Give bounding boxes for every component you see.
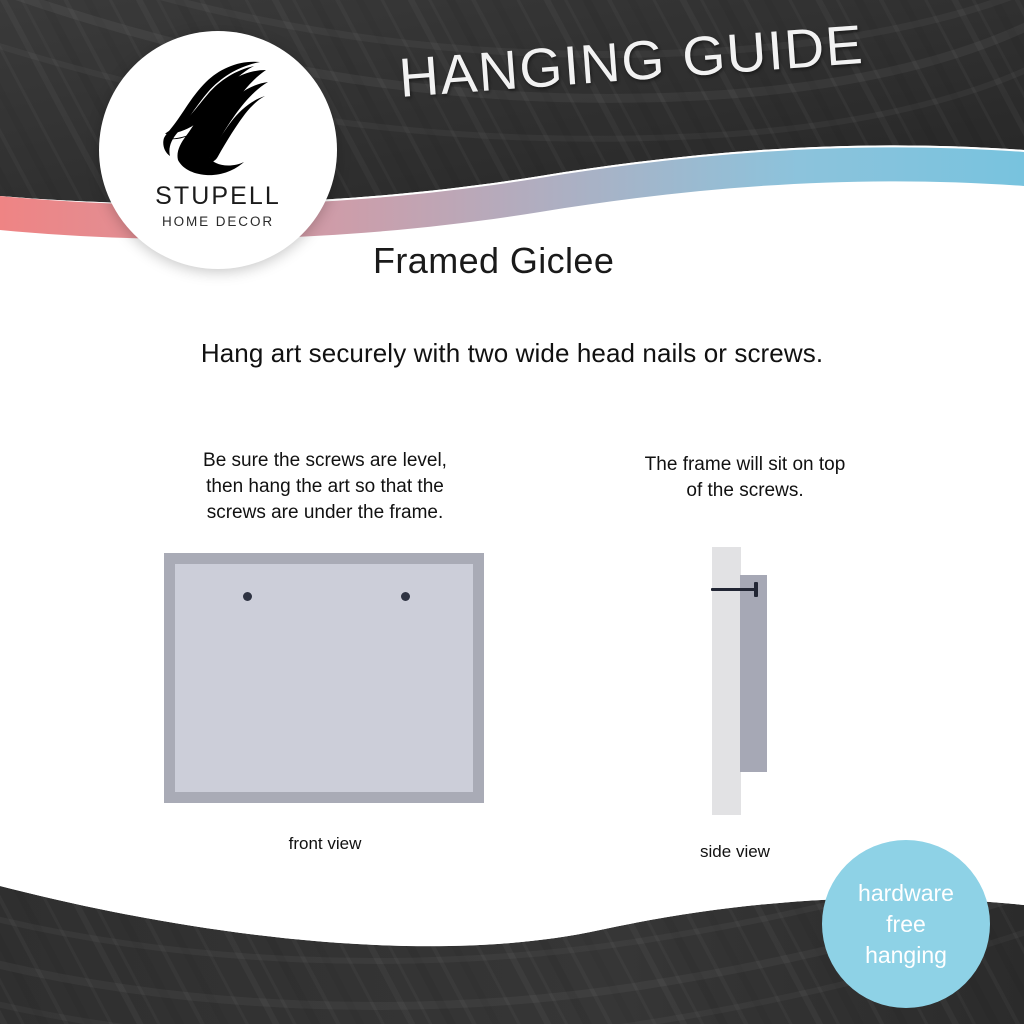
product-type-title: Framed Giclee <box>373 240 614 282</box>
brand-tagline: HOME DECOR <box>162 214 274 229</box>
badge-line: hanging <box>865 940 947 971</box>
badge-line: hardware <box>858 878 954 909</box>
side-view-label: side view <box>620 842 850 862</box>
hardware-free-hanging-badge: hardware free hanging <box>822 840 990 1008</box>
lead-instruction-text: Hang art securely with two wide head nai… <box>0 338 1024 369</box>
front-view-art-panel <box>175 564 473 792</box>
nail-head-icon <box>754 582 758 597</box>
page-title: HANGING GUIDE <box>370 10 893 112</box>
caption-line: then hang the art so that the <box>160 474 490 500</box>
front-view-caption: Be sure the screws are level, then hang … <box>160 448 490 526</box>
nail-shaft-icon <box>711 588 758 591</box>
side-view-caption: The frame will sit on top of the screws. <box>600 452 890 504</box>
screw-dot-left-icon <box>243 592 252 601</box>
caption-line: The frame will sit on top <box>600 452 890 478</box>
caption-line: Be sure the screws are level, <box>160 448 490 474</box>
caption-line: of the screws. <box>600 478 890 504</box>
caption-line: screws are under the frame. <box>160 500 490 526</box>
side-view-frame <box>740 575 767 772</box>
front-view-label: front view <box>200 834 450 854</box>
front-view-diagram <box>164 553 484 803</box>
side-view-diagram <box>700 540 800 825</box>
stupell-swoosh-icon <box>162 56 274 178</box>
brand-logo-badge: STUPELL HOME DECOR <box>99 31 337 269</box>
brand-wordmark: STUPELL <box>155 182 281 211</box>
badge-line: free <box>886 909 926 940</box>
hanging-guide-page: HANGING GUIDE STUPELL HOME DECOR Framed … <box>0 0 1024 1024</box>
screw-dot-right-icon <box>401 592 410 601</box>
